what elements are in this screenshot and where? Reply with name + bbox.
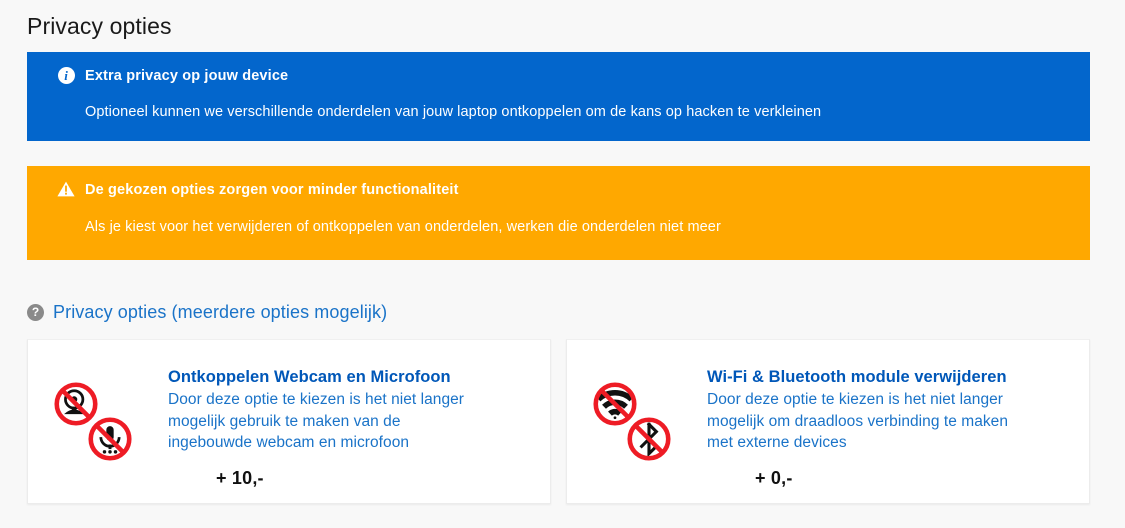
warning-triangle-icon-svg: [57, 181, 75, 197]
info-banner-title: Extra privacy op jouw device: [85, 66, 288, 86]
option-card-body: Ontkoppelen Webcam en Microfoon Door dez…: [168, 354, 538, 493]
option-card-icons: [579, 354, 707, 493]
option-card-description: Door deze optie te kiezen is het niet la…: [168, 389, 488, 454]
option-card-body: Wi-Fi & Bluetooth module verwijderen Doo…: [707, 354, 1077, 493]
warning-banner: De gekozen opties zorgen voor minder fun…: [27, 166, 1090, 260]
page-title: Privacy opties: [27, 12, 172, 40]
section-label: ? Privacy opties (meerdere opties mogeli…: [27, 300, 387, 324]
option-card-icons: [40, 354, 168, 493]
warning-banner-body: Als je kiest voor het verwijderen of ont…: [85, 217, 1070, 237]
option-card-title: Wi-Fi & Bluetooth module verwijderen: [707, 367, 1077, 388]
option-card-wifi-bluetooth[interactable]: Wi-Fi & Bluetooth module verwijderen Doo…: [566, 339, 1090, 504]
option-card-price: + 0,-: [707, 468, 1077, 489]
info-banner-body: Optioneel kunnen we verschillende onderd…: [85, 102, 1070, 122]
warning-triangle-icon: [47, 180, 85, 197]
help-circle-icon[interactable]: ?: [27, 304, 44, 321]
option-card-title: Ontkoppelen Webcam en Microfoon: [168, 367, 538, 388]
info-circle-icon: i: [47, 66, 85, 84]
option-card-description: Door deze optie te kiezen is het niet la…: [707, 389, 1027, 454]
option-card-webcam-microfoon[interactable]: Ontkoppelen Webcam en Microfoon Door dez…: [27, 339, 551, 504]
option-card-price: + 10,-: [168, 468, 538, 489]
privacy-options-page: Privacy opties i Extra privacy op jouw d…: [0, 0, 1125, 528]
no-bluetooth-icon: [627, 417, 671, 461]
warning-banner-head: De gekozen opties zorgen voor minder fun…: [47, 180, 1070, 200]
info-banner: i Extra privacy op jouw device Optioneel…: [27, 52, 1090, 141]
info-circle-icon-glyph: i: [58, 67, 75, 84]
option-card-list: Ontkoppelen Webcam en Microfoon Door dez…: [27, 339, 1091, 504]
no-microphone-icon: [88, 417, 132, 461]
section-label-text: Privacy opties (meerdere opties mogelijk…: [53, 300, 387, 324]
warning-banner-title: De gekozen opties zorgen voor minder fun…: [85, 180, 459, 200]
info-banner-head: i Extra privacy op jouw device: [47, 66, 1070, 86]
